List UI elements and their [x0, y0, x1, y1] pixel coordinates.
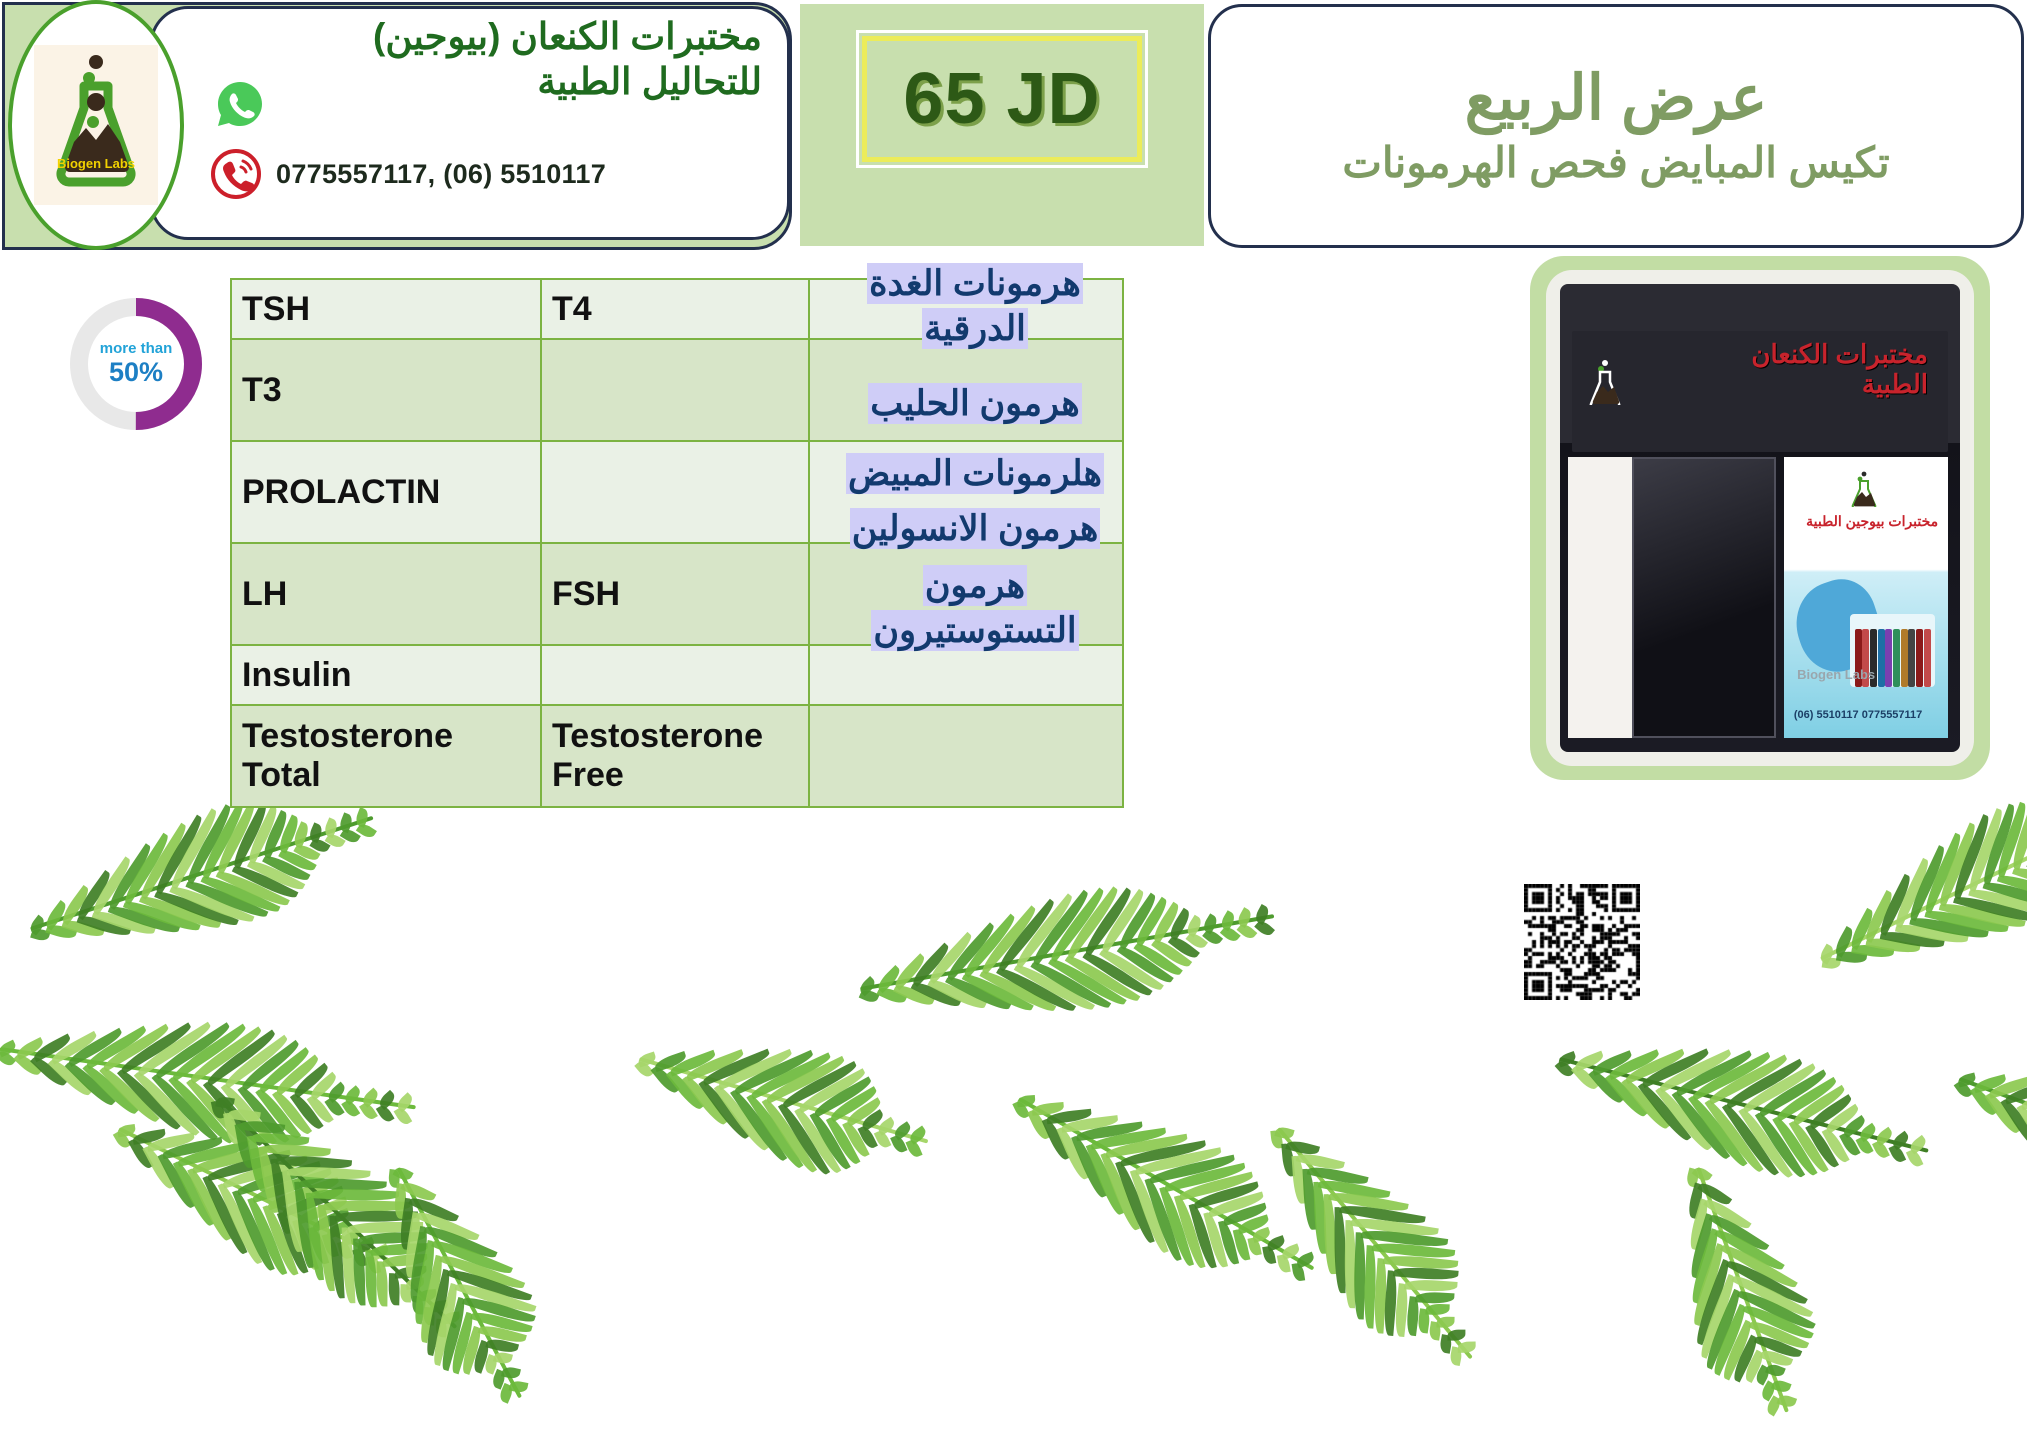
table-cell-label-slot [809, 441, 1123, 543]
table-cell-test: T4 [541, 279, 809, 339]
poster-title: مختبرات بيوجين الطبية [1806, 513, 1938, 530]
brand-name-line1: مختبرات الكنعان (بيوجين) [190, 14, 762, 59]
table-cell-test: T3 [231, 339, 541, 441]
table-cell-test: Insulin [231, 645, 541, 705]
offer-card: عرض الربيع تكيس المبايض فحص الهرمونات [1208, 4, 2024, 248]
table-row: Insulin [231, 645, 1123, 705]
whatsapp-icon[interactable] [212, 76, 268, 132]
entrance-door [1632, 457, 1776, 738]
table-cell-label-slot [809, 543, 1123, 645]
table-cell-test: PROLACTIN [231, 441, 541, 543]
donut-svg [62, 290, 210, 438]
shop-sign-line2: الطبية [1751, 370, 1928, 400]
header: Biogen Labs مختبرات الكنعان (بيوجين) للت… [0, 0, 2027, 250]
price-amount: 65 JD [903, 58, 1100, 140]
test-tube [1893, 629, 1900, 687]
table-cell-label-slot [809, 339, 1123, 441]
phone-numbers[interactable]: 0775557117, (06) 5510117 [276, 159, 606, 190]
test-tube [1885, 629, 1892, 687]
shop-sign-text: مختبرات الكنعان الطبية [1751, 340, 1928, 400]
table-cell-test [541, 441, 809, 543]
logo-card: Biogen Labs [34, 45, 158, 205]
contact-line: 0775557117, (06) 5510117 [210, 148, 770, 200]
offer-title: عرض الربيع [1465, 65, 1768, 133]
brand-title-block: مختبرات الكنعان (بيوجين) للتحاليل الطبية [190, 14, 780, 104]
test-tube [1916, 629, 1923, 687]
poster-left [1568, 457, 1632, 738]
storefront-photo-frame: مختبرات الكنعان الطبية مختبرات بيوجين ال… [1546, 270, 1974, 766]
test-tube [1908, 629, 1915, 687]
price-badge: 65 JD [862, 36, 1142, 162]
table-cell-test: Testosterone Total [231, 705, 541, 807]
table-cell-test: LH [231, 543, 541, 645]
poster-phones: (06) 5510117 0775557117 [1794, 709, 1922, 721]
table-row: TSHT4 [231, 279, 1123, 339]
table-cell-label-slot [809, 705, 1123, 807]
logo-badge: Biogen Labs [8, 0, 184, 250]
table-row: Testosterone TotalTestosterone Free [231, 705, 1123, 807]
logo-wordmark: Biogen Labs [57, 156, 135, 171]
table-row: LHFSH [231, 543, 1123, 645]
test-tube [1924, 629, 1931, 687]
qr-code[interactable] [1520, 880, 1644, 1004]
table-cell-test: FSH [541, 543, 809, 645]
poster-flask-icon [1850, 471, 1878, 507]
table-row: PROLACTIN [231, 441, 1123, 543]
poster-right: مختبرات بيوجين الطبية Biogen Labs (06) 5… [1784, 457, 1948, 738]
test-tube [1878, 629, 1885, 687]
table-cell-test [541, 645, 809, 705]
storefront-photo-card: مختبرات الكنعان الطبية مختبرات بيوجين ال… [1530, 256, 1990, 780]
donut-chart: more than 50% [62, 290, 210, 438]
table-cell-label-slot [809, 279, 1123, 339]
phone-ring-icon[interactable] [210, 148, 262, 200]
flask-logo-icon: Biogen Labs [41, 50, 151, 200]
shop-sign-line1: مختبرات الكنعان [1751, 340, 1928, 370]
table-cell-test: Testosterone Free [541, 705, 809, 807]
brand-name-line2: للتحاليل الطبية [190, 59, 762, 104]
sign-flask-icon [1588, 359, 1622, 405]
table-row: T3 [231, 339, 1123, 441]
table-cell-test [541, 339, 809, 441]
table-cell-label-slot [809, 645, 1123, 705]
hormone-panel-table: TSHT4T3PROLACTINLHFSHInsulinTestosterone… [230, 278, 1124, 808]
qr-canvas [1524, 884, 1640, 1000]
storefront-photo: مختبرات الكنعان الطبية مختبرات بيوجين ال… [1560, 284, 1960, 752]
table-cell-test: TSH [231, 279, 541, 339]
poster-brand: Biogen Labs [1797, 667, 1875, 682]
offer-subtitle: تكيس المبايض فحص الهرمونات [1342, 139, 1889, 187]
test-tube [1901, 629, 1908, 687]
